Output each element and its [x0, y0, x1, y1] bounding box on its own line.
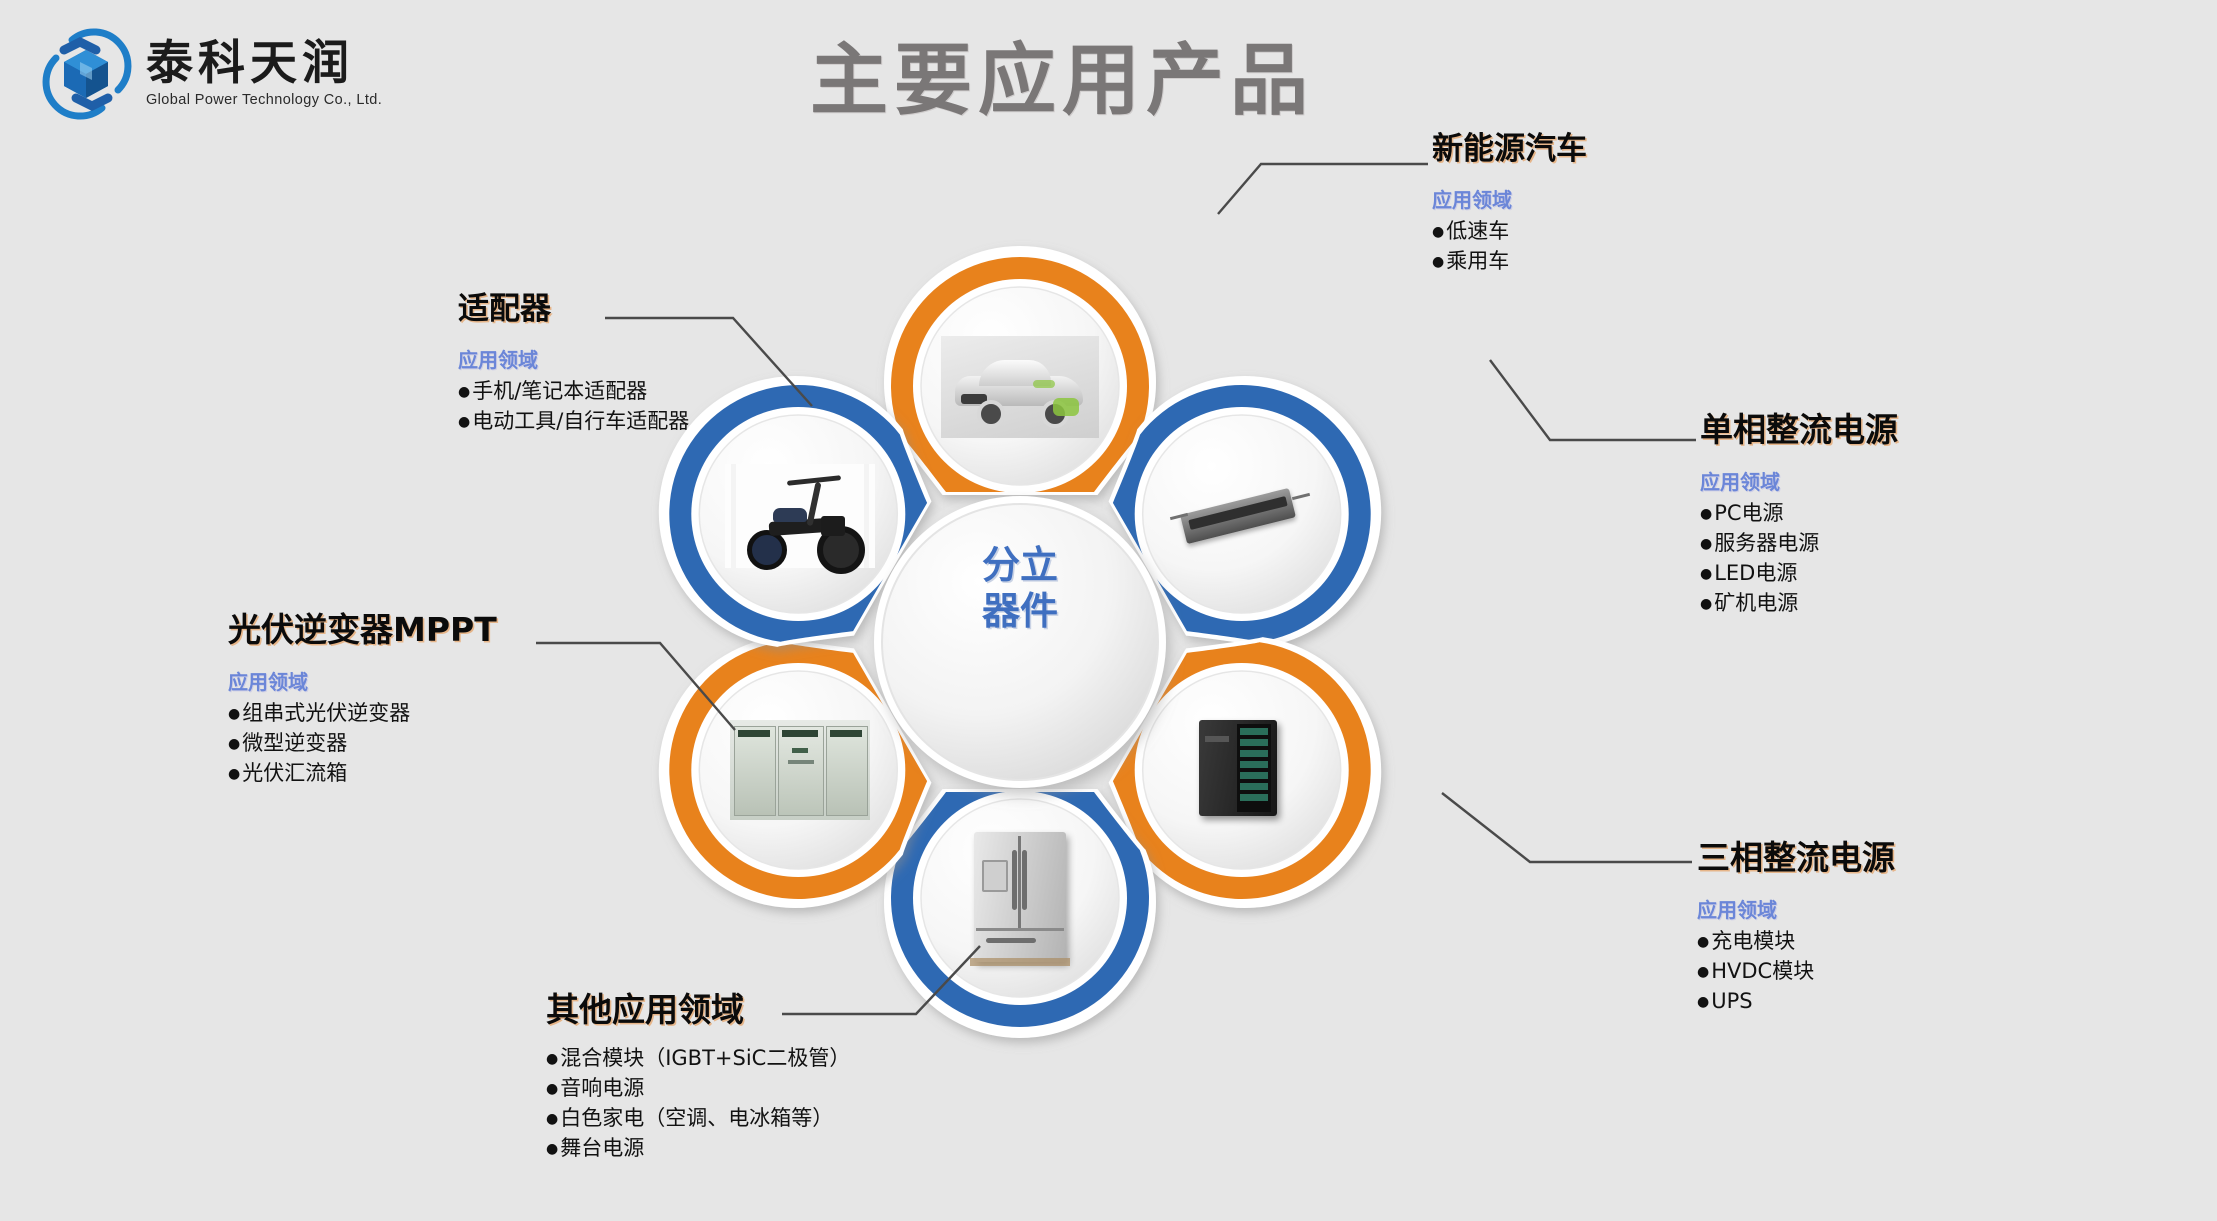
callout-single-phase-rectifier: 单相整流电源 应用领域 PC电源 服务器电源 LED电源 矿机电源: [1700, 412, 1898, 619]
list-item: 电动工具/自行车适配器: [458, 407, 689, 437]
callout-sub-single-phase-rectifier: 应用领域: [1700, 466, 1898, 495]
callout-other-applications: 其他应用领域 混合模块（IGBT+SiC二极管） 音响电源 白色家电（空调、电冰…: [546, 992, 850, 1164]
list-item: LED电源: [1700, 559, 1898, 589]
petal-face: [1143, 415, 1341, 613]
list-item: 白色家电（空调、电冰箱等）: [546, 1104, 850, 1134]
logo-name-cn: 泰科天润: [146, 40, 382, 87]
petal-face: [921, 287, 1119, 485]
list-item: 手机/笔记本适配器: [458, 377, 689, 407]
callout-three-phase-rectifier: 三相整流电源 应用领域 充电模块 HVDC模块 UPS: [1697, 840, 1895, 1017]
logo-name-en: Global Power Technology Co., Ltd.: [146, 93, 382, 108]
company-logo: 泰科天润 Global Power Technology Co., Ltd.: [40, 28, 382, 120]
list-item: 低速车: [1432, 217, 1587, 247]
callout-sub-adapter: 应用领域: [458, 344, 689, 373]
callout-list-three-phase-rectifier: 充电模块 HVDC模块 UPS: [1697, 927, 1895, 1016]
callout-list-adapter: 手机/笔记本适配器 电动工具/自行车适配器: [458, 377, 689, 437]
petal-other-applications[interactable]: [891, 791, 1149, 1031]
petal-face: [1143, 671, 1341, 869]
list-item: 微型逆变器: [228, 729, 497, 759]
list-item: 舞台电源: [546, 1134, 850, 1164]
slide-canvas: 泰科天润 Global Power Technology Co., Ltd. 主…: [0, 0, 2217, 1221]
callout-title-pv-inverter-mppt: 光伏逆变器MPPT: [228, 612, 497, 648]
callout-sub-three-phase-rectifier: 应用领域: [1697, 894, 1895, 923]
callout-sub-pv-inverter-mppt: 应用领域: [228, 666, 497, 695]
callout-new-energy-vehicle: 新能源汽车 应用领域 低速车 乘用车: [1432, 132, 1587, 277]
list-item: 服务器电源: [1700, 529, 1898, 559]
petal-face: [921, 799, 1119, 997]
callout-title-single-phase-rectifier: 单相整流电源: [1700, 412, 1898, 448]
list-item: 音响电源: [546, 1074, 850, 1104]
cube-orbit-logo-icon: [40, 28, 132, 120]
list-item: UPS: [1697, 987, 1895, 1017]
callout-list-pv-inverter-mppt: 组串式光伏逆变器 微型逆变器 光伏汇流箱: [228, 699, 497, 788]
list-item: PC电源: [1700, 499, 1898, 529]
petal-face: [699, 415, 897, 613]
list-item: 乘用车: [1432, 247, 1587, 277]
callout-list-single-phase-rectifier: PC电源 服务器电源 LED电源 矿机电源: [1700, 499, 1898, 618]
list-item: 充电模块: [1697, 927, 1895, 957]
callout-sub-new-energy-vehicle: 应用领域: [1432, 184, 1587, 213]
callout-title-other-applications: 其他应用领域: [546, 992, 850, 1028]
list-item: 矿机电源: [1700, 589, 1898, 619]
list-item: 组串式光伏逆变器: [228, 699, 497, 729]
callout-list-other-applications: 混合模块（IGBT+SiC二极管） 音响电源 白色家电（空调、电冰箱等） 舞台电…: [546, 1044, 850, 1163]
callout-pv-inverter-mppt: 光伏逆变器MPPT 应用领域 组串式光伏逆变器 微型逆变器 光伏汇流箱: [228, 612, 497, 789]
list-item: 混合模块（IGBT+SiC二极管）: [546, 1044, 850, 1074]
callout-title-adapter: 适配器: [458, 292, 689, 326]
petal-new-energy-vehicle[interactable]: [891, 253, 1149, 493]
petal-face: [699, 671, 897, 869]
callout-list-new-energy-vehicle: 低速车 乘用车: [1432, 217, 1587, 277]
page-title: 主要应用产品: [810, 18, 1314, 130]
callout-title-new-energy-vehicle: 新能源汽车: [1432, 132, 1587, 166]
callout-title-three-phase-rectifier: 三相整流电源: [1697, 840, 1895, 876]
list-item: 光伏汇流箱: [228, 759, 497, 789]
callout-adapter: 适配器 应用领域 手机/笔记本适配器 电动工具/自行车适配器: [458, 292, 689, 437]
hub-circle: [874, 496, 1166, 788]
list-item: HVDC模块: [1697, 957, 1895, 987]
